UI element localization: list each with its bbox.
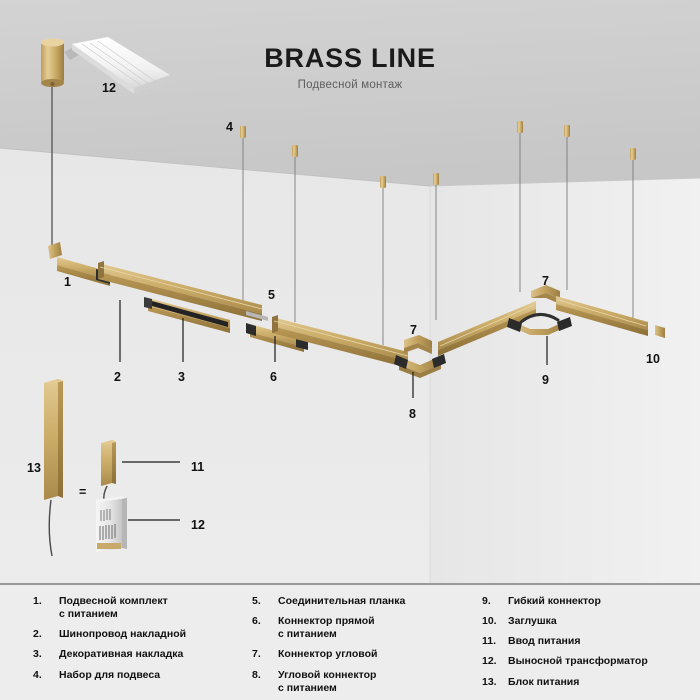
legend-item: 2.Шинопровод накладной: [33, 628, 240, 641]
driver-side: [122, 496, 127, 549]
legend-item-number: 5.: [252, 595, 278, 608]
ceiling-clip-3: [380, 176, 386, 188]
legend-item-label: Блок питания: [508, 676, 579, 689]
brass-cylinder-body: [41, 41, 64, 84]
power-feed-body: [101, 440, 112, 486]
legend-item-number: 3.: [33, 648, 59, 661]
legend-item-label: Гибкий коннектор: [508, 595, 601, 608]
callout-6: 6: [270, 371, 277, 384]
legend-item-number: 2.: [33, 628, 59, 641]
callout-1: 1: [64, 276, 71, 289]
legend-column-3: 9.Гибкий коннектор10.Заглушка11.Ввод пит…: [470, 595, 700, 700]
legend-item: 4.Набор для подвеса: [33, 669, 240, 682]
callout-9: 9: [542, 374, 549, 387]
legend-item-number: 8.: [252, 669, 278, 682]
legend-column-1: 1.Подвесной комплект с питанием2.Шинопро…: [0, 595, 240, 700]
legend-item-label: Коннектор прямой с питанием: [278, 615, 375, 641]
right-wall: [430, 178, 700, 583]
callout-8: 8: [409, 408, 416, 421]
legend-item-label: Заглушка: [508, 615, 557, 628]
ceiling-clip-1: [240, 126, 246, 138]
legend-item-label: Ввод питания: [508, 635, 580, 648]
legend-item: 12.Выносной трансформатор: [482, 655, 700, 668]
legend: 1.Подвесной комплект с питанием2.Шинопро…: [0, 585, 700, 700]
busbar-left-endcap: [98, 261, 104, 279]
driver-terminal-block: [97, 543, 121, 549]
pendant-power-cylinder: [41, 39, 64, 88]
legend-item-label: Шинопровод накладной: [59, 628, 186, 641]
legend-item-number: 6.: [252, 615, 278, 628]
legend-item-label: Декоративная накладка: [59, 648, 183, 661]
legend-item-label: Соединительная планка: [278, 595, 405, 608]
legend-item-label: Коннектор угловой: [278, 648, 377, 661]
ceiling-clip-5: [517, 121, 523, 133]
callout-12: 12: [191, 519, 205, 532]
legend-column-2: 5.Соединительная планка6.Коннектор прямо…: [240, 595, 470, 700]
legend-item: 6.Коннектор прямой с питанием: [252, 615, 470, 641]
legend-item: 1.Подвесной комплект с питанием: [33, 595, 240, 621]
legend-item-number: 13.: [482, 676, 508, 689]
busbar-mid-endcap: [272, 315, 278, 333]
product-diagram-page: BRASS LINE Подвесной монтаж 124157236791…: [0, 0, 700, 700]
legend-item-number: 12.: [482, 655, 508, 668]
legend-item-number: 11.: [482, 635, 508, 648]
legend-item-number: 9.: [482, 595, 508, 608]
callout-=: =: [79, 486, 86, 499]
legend-item-number: 1.: [33, 595, 59, 608]
legend-item: 5.Соединительная планка: [252, 595, 470, 608]
brass-cylinder-top: [41, 39, 64, 47]
legend-item-number: 4.: [33, 669, 59, 682]
legend-item: 9.Гибкий коннектор: [482, 595, 700, 608]
callout-7: 7: [410, 324, 417, 337]
callout-5: 5: [268, 289, 275, 302]
ceiling-clip-6: [564, 125, 570, 137]
legend-item: 11.Ввод питания: [482, 635, 700, 648]
legend-item-label: Угловой коннектор с питанием: [278, 669, 376, 695]
legend-item-label: Набор для подвеса: [59, 669, 160, 682]
ceiling-clip-4: [433, 173, 439, 185]
legend-item-label: Выносной трансформатор: [508, 655, 648, 668]
legend-item: 7.Коннектор угловой: [252, 648, 470, 661]
cover-left-cap: [144, 297, 152, 309]
callout-11: 11: [191, 461, 204, 474]
callout-2: 2: [114, 371, 121, 384]
ceiling-clip-7: [630, 148, 636, 160]
remote-transformer-bottom: [96, 496, 127, 552]
ceiling-clip-2: [292, 145, 298, 157]
callout-7: 7: [542, 275, 549, 288]
psu-front-face: [44, 379, 58, 500]
cylinder-wire-exit: [51, 82, 55, 86]
legend-item-number: 7.: [252, 648, 278, 661]
callout-13: 13: [27, 462, 41, 475]
legend-item-label: Подвесной комплект с питанием: [59, 595, 168, 621]
callout-3: 3: [178, 371, 185, 384]
callout-10: 10: [646, 353, 660, 366]
legend-item: 13.Блок питания: [482, 676, 700, 689]
legend-item-number: 10.: [482, 615, 508, 628]
psu-side-face: [58, 379, 63, 498]
power-feed-side: [112, 440, 116, 484]
left-wall: [0, 148, 430, 583]
callout-4: 4: [226, 121, 233, 134]
callout-12: 12: [102, 82, 116, 95]
legend-item: 8.Угловой коннектор с питанием: [252, 669, 470, 695]
legend-item: 10.Заглушка: [482, 615, 700, 628]
legend-item: 3.Декоративная накладка: [33, 648, 240, 661]
